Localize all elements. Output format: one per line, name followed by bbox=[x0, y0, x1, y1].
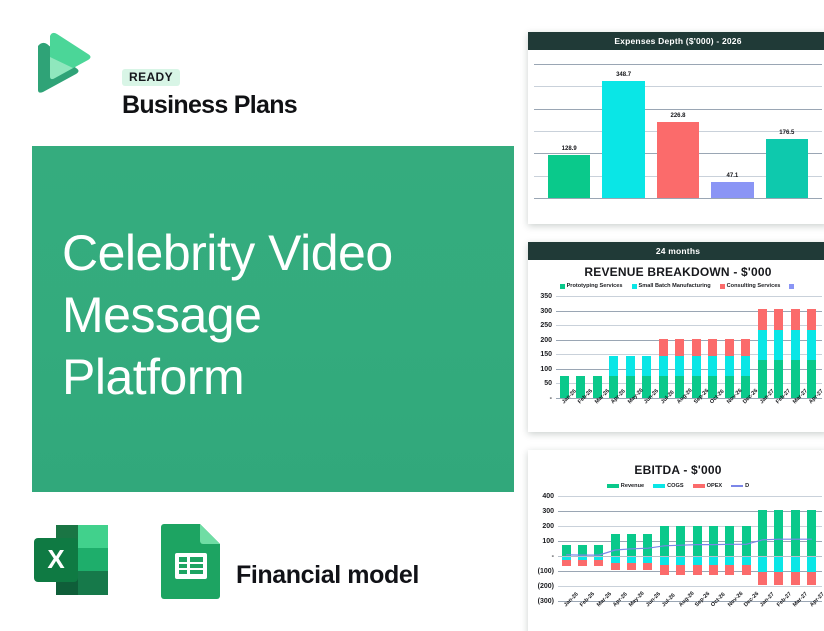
bar-segment bbox=[725, 339, 734, 356]
expenses-plot-area: 128.9348.7226.847.1176.5 bbox=[534, 54, 822, 206]
slide-canvas: READY Business Plans Celebrity Video Mes… bbox=[0, 0, 824, 631]
bar-segment bbox=[675, 339, 684, 356]
bar-segment bbox=[642, 356, 651, 376]
bar-segment bbox=[774, 309, 783, 330]
y-tick-label: 300 bbox=[534, 308, 552, 315]
revenue-stacked-bar[interactable] bbox=[758, 309, 767, 398]
gridline bbox=[534, 109, 822, 110]
ready-badge: READY bbox=[122, 69, 180, 86]
legend-item bbox=[789, 284, 796, 289]
bar-segment bbox=[741, 356, 750, 376]
y-tick-label: 350 bbox=[534, 293, 552, 300]
expenses-bar[interactable] bbox=[711, 182, 753, 198]
revenue-stacked-bar[interactable] bbox=[675, 339, 684, 398]
bar-segment bbox=[659, 356, 668, 376]
ebitda-chart-title: EBITDA - $'000 bbox=[528, 458, 824, 477]
expenses-bar-value: 226.8 bbox=[657, 113, 699, 119]
google-sheets-icon bbox=[158, 521, 224, 599]
expenses-bar-value: 348.7 bbox=[602, 72, 644, 78]
legend-swatch bbox=[632, 284, 637, 289]
expenses-bar[interactable] bbox=[548, 155, 590, 198]
ebitda-legend: RevenueCOGSOPEXD bbox=[528, 483, 824, 489]
ebitda-x-axis: Jan-26Feb-26Mar-26Apr-26May-26Jun-26Jul-… bbox=[534, 603, 822, 629]
page-title: Celebrity Video Message Platform bbox=[62, 222, 492, 408]
expenses-bar-value: 47.1 bbox=[711, 173, 753, 179]
expenses-bar-value: 176.5 bbox=[766, 130, 808, 136]
legend-label: OPEX bbox=[707, 483, 723, 489]
revenue-stacked-bar[interactable] bbox=[774, 309, 783, 398]
expenses-bar-value: 128.9 bbox=[548, 146, 590, 152]
legend-item: Revenue bbox=[607, 483, 644, 489]
legend-label: Small Batch Manufacturing bbox=[639, 283, 711, 289]
legend-swatch bbox=[560, 284, 565, 289]
chart-card-expenses-depth[interactable]: Expenses Depth ($'000) - 2026 128.9348.7… bbox=[528, 32, 824, 224]
bar-segment bbox=[741, 339, 750, 356]
revenue-stacked-bar[interactable] bbox=[807, 309, 816, 398]
brand-logo: READY Business Plans bbox=[28, 28, 328, 100]
legend-swatch bbox=[693, 484, 705, 488]
legend-item: D bbox=[731, 483, 749, 489]
legend-item: Consulting Services bbox=[720, 283, 781, 289]
microsoft-excel-icon: X bbox=[30, 521, 112, 599]
y-tick-label: 250 bbox=[534, 322, 552, 329]
bar-segment bbox=[692, 356, 701, 376]
revenue-stacked-bar[interactable] bbox=[626, 356, 635, 398]
bar-segment bbox=[774, 330, 783, 360]
svg-text:X: X bbox=[47, 544, 65, 574]
legend-swatch bbox=[607, 484, 619, 488]
legend-label: COGS bbox=[667, 483, 683, 489]
gridline bbox=[534, 86, 822, 87]
expenses-bar[interactable] bbox=[602, 81, 644, 198]
gridline bbox=[534, 198, 822, 199]
bar-segment bbox=[791, 309, 800, 330]
legend-label: Revenue bbox=[621, 483, 644, 489]
legend-label: Prototyping Services bbox=[567, 283, 623, 289]
ebitda-plot-area: 400300200100-(100)(200)(300) bbox=[534, 493, 822, 603]
revenue-title-band: REVENUE BREAKDOWN - $'000 bbox=[528, 260, 824, 279]
revenue-chart-title: REVENUE BREAKDOWN - $'000 bbox=[528, 260, 824, 279]
legend-swatch bbox=[789, 284, 794, 289]
bar-segment bbox=[609, 356, 618, 376]
legend-item: COGS bbox=[653, 483, 683, 489]
ebitda-title-band: EBITDA - $'000 bbox=[528, 450, 824, 477]
bar-segment bbox=[758, 309, 767, 330]
bar-segment bbox=[807, 309, 816, 330]
revenue-stacked-bar[interactable] bbox=[692, 339, 701, 398]
gridline bbox=[534, 64, 822, 65]
bar-segment bbox=[791, 330, 800, 360]
revenue-stacked-bar[interactable] bbox=[741, 339, 750, 398]
legend-item: Prototyping Services bbox=[560, 283, 623, 289]
chart-card-ebitda[interactable]: EBITDA - $'000 RevenueCOGSOPEXD 40030020… bbox=[528, 450, 824, 631]
bar-segment bbox=[708, 356, 717, 376]
bar-segment bbox=[626, 356, 635, 376]
expenses-chart-title: Expenses Depth ($'000) - 2026 bbox=[528, 32, 824, 50]
revenue-plot-area: 35030025020015010050- bbox=[534, 292, 822, 400]
bar-segment bbox=[807, 330, 816, 360]
financial-model-label: Financial model bbox=[236, 561, 419, 590]
gridline bbox=[556, 296, 822, 297]
y-tick-label: 100 bbox=[534, 366, 552, 373]
revenue-stacked-bar[interactable] bbox=[659, 339, 668, 398]
brand-name: Business Plans bbox=[122, 91, 297, 120]
revenue-legend: Prototyping ServicesSmall Batch Manufact… bbox=[528, 283, 824, 289]
revenue-banner: 24 months bbox=[528, 242, 824, 260]
chart-card-revenue-breakdown[interactable]: 24 months REVENUE BREAKDOWN - $'000 Prot… bbox=[528, 242, 824, 432]
legend-item: OPEX bbox=[693, 483, 723, 489]
legend-label: Consulting Services bbox=[727, 283, 781, 289]
bar-segment bbox=[758, 330, 767, 360]
revenue-stacked-bar[interactable] bbox=[708, 339, 717, 398]
legend-swatch bbox=[653, 484, 665, 488]
expenses-bar[interactable] bbox=[766, 139, 808, 198]
bar-segment bbox=[675, 356, 684, 376]
bar-segment bbox=[725, 356, 734, 376]
bar-segment bbox=[659, 339, 668, 356]
expenses-bar[interactable] bbox=[657, 122, 699, 198]
y-tick-label: 150 bbox=[534, 351, 552, 358]
y-tick-label: 200 bbox=[534, 337, 552, 344]
revenue-stacked-bar[interactable] bbox=[791, 309, 800, 398]
bar-segment bbox=[692, 339, 701, 356]
legend-item: Small Batch Manufacturing bbox=[632, 283, 711, 289]
revenue-x-axis: Jan-26Feb-26Mar-26Apr-26May-26Jun-26Jul-… bbox=[534, 400, 822, 426]
y-tick-label: 50 bbox=[534, 380, 552, 387]
legend-swatch bbox=[731, 485, 743, 487]
ebitda-trend-line bbox=[534, 493, 822, 603]
legend-label: D bbox=[745, 483, 749, 489]
revenue-stacked-bar[interactable] bbox=[725, 339, 734, 398]
play-triangles-logo-icon bbox=[28, 30, 92, 96]
legend-swatch bbox=[720, 284, 725, 289]
bar-segment bbox=[708, 339, 717, 356]
